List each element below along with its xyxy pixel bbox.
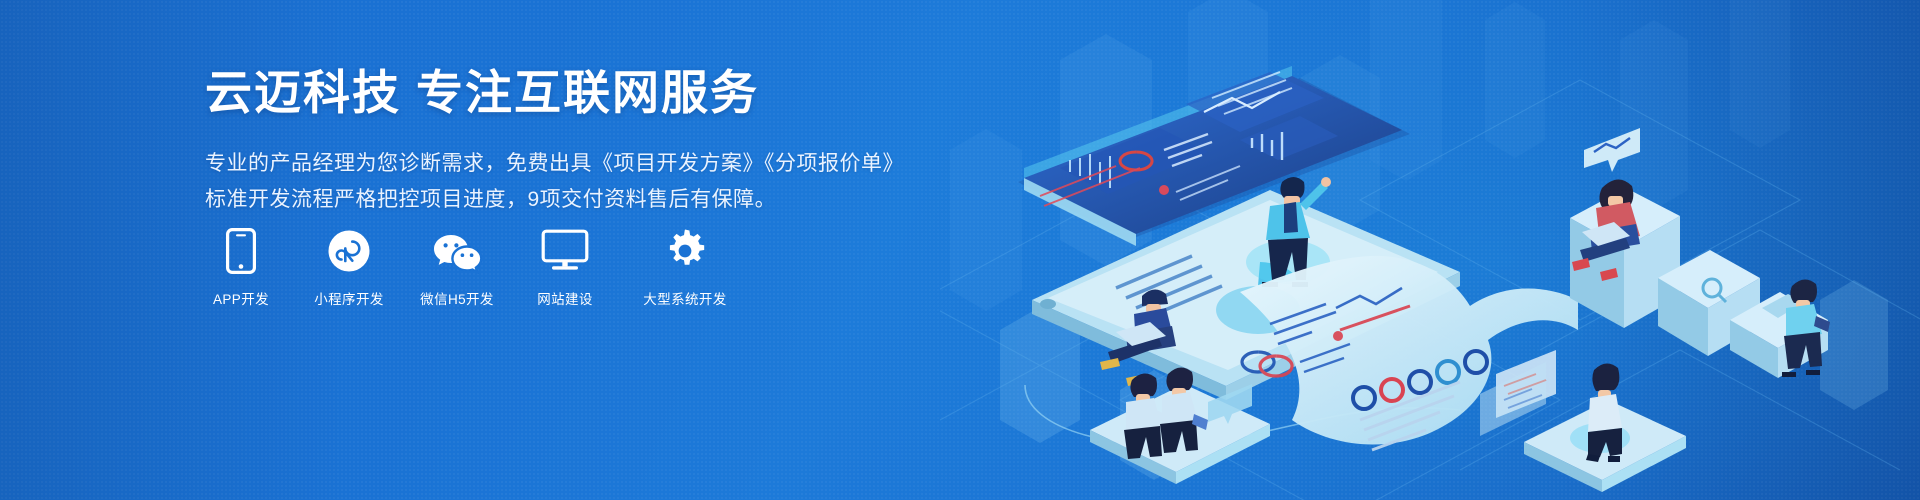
service-item-mini-program[interactable]: 小程序开发: [313, 228, 385, 308]
hero-banner: 云迈科技 专注互联网服务 专业的产品经理为您诊断需求，免费出具《项目开发方案》《…: [0, 0, 1920, 500]
subtitle-line-2: 标准开发流程严格把控项目进度，9项交付资料售后有保障。: [205, 182, 965, 218]
isometric-tech-illustration: [940, 0, 1920, 500]
wechat-icon: [431, 228, 483, 274]
service-label: 小程序开发: [314, 288, 384, 308]
page-title: 云迈科技 专注互联网服务: [205, 66, 965, 120]
subtitle-line-1: 专业的产品经理为您诊断需求，免费出具《项目开发方案》《分项报价单》: [205, 146, 965, 182]
service-item-website[interactable]: 网站建设: [529, 228, 601, 308]
service-label: APP开发: [213, 288, 269, 308]
service-label: 微信H5开发: [420, 288, 494, 308]
service-item-wechat-h5[interactable]: 微信H5开发: [421, 228, 493, 308]
hero-copy: 云迈科技 专注互联网服务 专业的产品经理为您诊断需求，免费出具《项目开发方案》《…: [205, 66, 965, 218]
mobile-phone-icon: [226, 228, 256, 274]
service-label: 大型系统开发: [643, 288, 726, 308]
data-ribbon: [1240, 256, 1578, 450]
service-list: APP开发 小程序开发: [205, 228, 733, 308]
service-item-large-system[interactable]: 大型系统开发: [637, 228, 733, 308]
service-item-app[interactable]: APP开发: [205, 228, 277, 308]
mini-program-icon: [327, 228, 371, 274]
service-label: 网站建设: [537, 288, 593, 308]
monitor-icon: [541, 228, 589, 274]
gear-icon: [662, 228, 708, 274]
